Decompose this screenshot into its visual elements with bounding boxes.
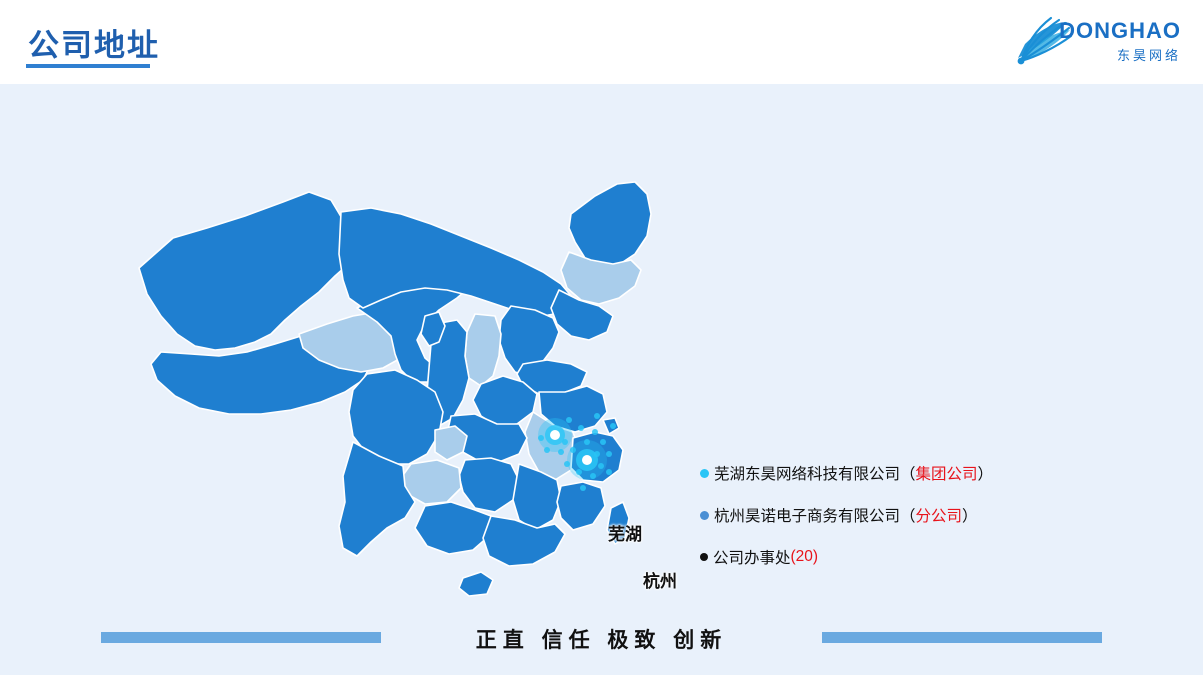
legend-text-2: 杭州昊诺电子商务有限公司（ <box>714 504 916 526</box>
legend-emphasis-3: (20) <box>791 548 819 566</box>
legend: 芜湖东昊网络科技有限公司（ 集团公司 ） 杭州昊诺电子商务有限公司（ 分公司 ）… <box>700 462 1120 588</box>
slide-header: 公司地址 DONGHAO 东昊网络 <box>0 0 1203 84</box>
slide: 公司地址 DONGHAO 东昊网络 <box>0 0 1203 675</box>
map-label-hangzhou: 杭州 <box>643 567 677 592</box>
legend-item-group-company: 芜湖东昊网络科技有限公司（ 集团公司 ） <box>700 462 1120 484</box>
legend-item-branch-company: 杭州昊诺电子商务有限公司（ 分公司 ） <box>700 504 1120 526</box>
logo: DONGHAO 东昊网络 <box>1059 18 1181 64</box>
legend-text-1: 芜湖东昊网络科技有限公司（ <box>714 462 916 484</box>
page-title: 公司地址 <box>28 20 160 65</box>
marker-wuhu <box>538 418 572 452</box>
footer-slogan: 正直 信任 极致 创新 <box>0 624 1203 654</box>
legend-suffix-1: ） <box>978 462 994 484</box>
legend-item-offices: 公司办事处 (20) <box>700 546 1120 568</box>
legend-suffix-2: ） <box>962 504 978 526</box>
logo-text-cn: 东昊网络 <box>1059 45 1181 64</box>
legend-dot-cyan-icon <box>700 469 709 478</box>
title-underline <box>26 64 150 68</box>
legend-dot-blue-icon <box>700 511 709 520</box>
legend-emphasis-2: 分公司 <box>916 504 963 526</box>
map-label-wuhu: 芜湖 <box>608 520 642 545</box>
marker-hangzhou <box>567 440 607 480</box>
legend-emphasis-1: 集团公司 <box>916 462 978 484</box>
china-map: 芜湖 杭州 <box>95 120 715 620</box>
logo-text-en: DONGHAO <box>1059 18 1181 44</box>
legend-text-3: 公司办事处 <box>713 546 791 568</box>
legend-dot-dark-icon <box>700 553 708 561</box>
